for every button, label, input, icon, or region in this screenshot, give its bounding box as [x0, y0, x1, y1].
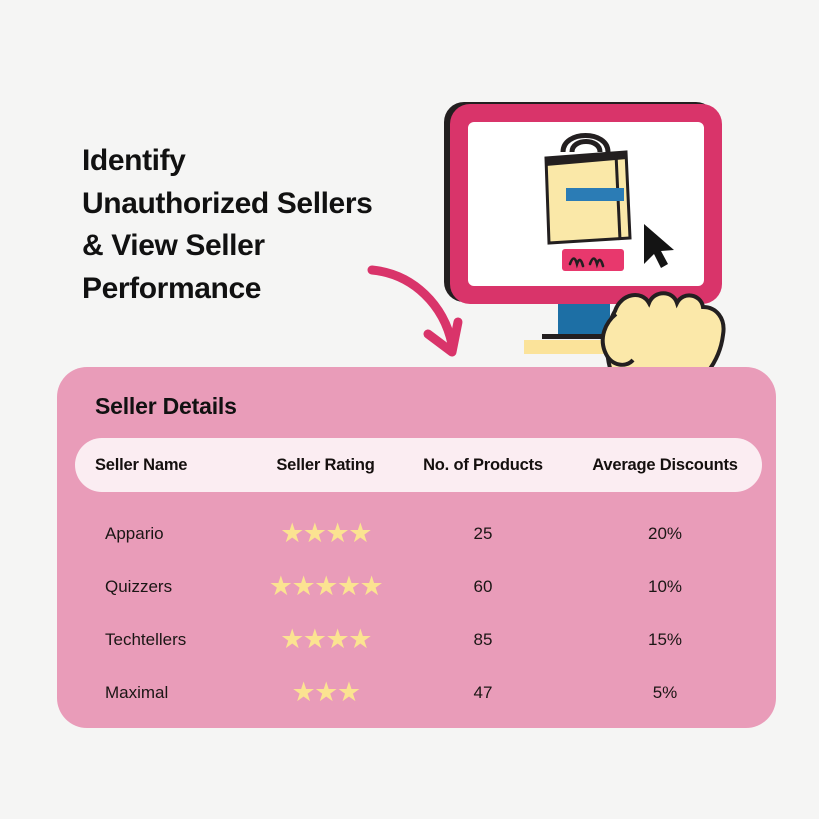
table-row[interactable]: Appario ★★★★ 25 20% [75, 507, 762, 560]
cell-average-discount: 20% [568, 524, 762, 544]
column-header-seller-rating[interactable]: Seller Rating [253, 456, 398, 475]
cell-seller-name: Quizzers [75, 577, 253, 597]
seller-details-panel: Seller Details Seller Name Seller Rating… [57, 367, 776, 728]
table-row[interactable]: Quizzers ★★★★★ 60 10% [75, 560, 762, 613]
column-header-average-discounts[interactable]: Average Discounts [568, 456, 762, 475]
table-body: Appario ★★★★ 25 20% Quizzers ★★★★★ 60 10… [75, 507, 762, 719]
cell-seller-rating: ★★★ [253, 679, 398, 706]
table-row[interactable]: Techtellers ★★★★ 85 15% [75, 613, 762, 666]
poster-canvas: Identify Unauthorized Sellers & View Sel… [0, 0, 819, 819]
cell-average-discount: 5% [568, 683, 762, 703]
cell-seller-name: Maximal [75, 683, 253, 703]
cell-seller-rating: ★★★★ [253, 520, 398, 547]
cell-no-of-products: 25 [398, 524, 568, 544]
cell-average-discount: 15% [568, 630, 762, 650]
bag-stripe [566, 188, 624, 201]
cell-no-of-products: 60 [398, 577, 568, 597]
cell-seller-name: Techtellers [75, 630, 253, 650]
cell-seller-name: Appario [75, 524, 253, 544]
cell-seller-rating: ★★★★★ [253, 573, 398, 600]
cell-no-of-products: 47 [398, 683, 568, 703]
headline-line-1: Identify [82, 140, 442, 183]
headline-line-2: Unauthorized Sellers [82, 183, 442, 226]
table-header-row: Seller Name Seller Rating No. of Product… [75, 438, 762, 492]
cell-no-of-products: 85 [398, 630, 568, 650]
panel-title: Seller Details [95, 393, 237, 420]
column-header-no-of-products[interactable]: No. of Products [398, 456, 568, 475]
table-row[interactable]: Maximal ★★★ 47 5% [75, 666, 762, 719]
column-header-seller-name[interactable]: Seller Name [75, 456, 253, 475]
cell-seller-rating: ★★★★ [253, 626, 398, 653]
cell-average-discount: 10% [568, 577, 762, 597]
